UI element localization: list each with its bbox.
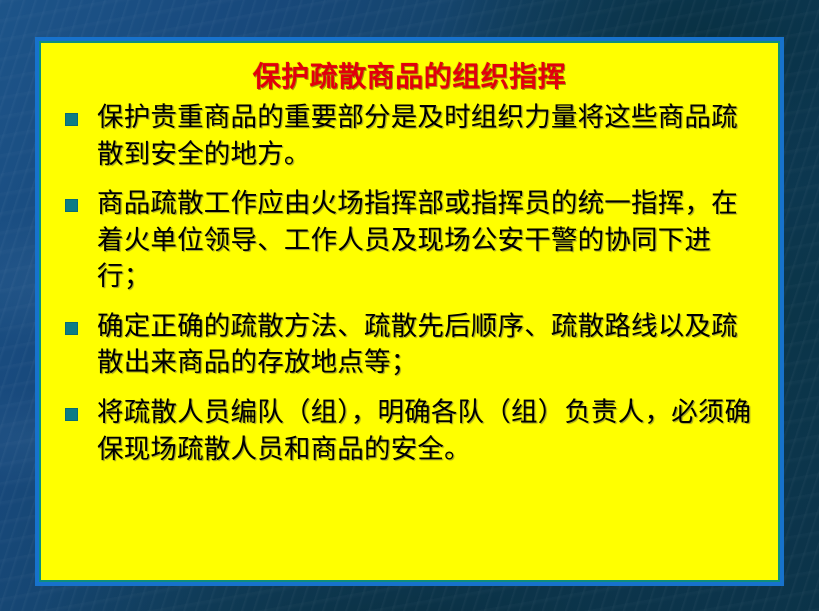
content-card: 保护疏散商品的组织指挥 保护贵重商品的重要部分是及时组织力量将这些商品疏散到安全… bbox=[35, 37, 784, 586]
slide-title: 保护疏散商品的组织指挥 bbox=[59, 59, 760, 94]
list-item: 确定正确的疏散方法、疏散先后顺序、疏散路线以及疏散出来商品的存放地点等； bbox=[59, 309, 760, 382]
slide-canvas: 保护疏散商品的组织指挥 保护贵重商品的重要部分是及时组织力量将这些商品疏散到安全… bbox=[0, 0, 819, 611]
list-item-text: 保护贵重商品的重要部分是及时组织力量将这些商品疏散到安全的地方。 bbox=[97, 100, 760, 173]
list-item-text: 确定正确的疏散方法、疏散先后顺序、疏散路线以及疏散出来商品的存放地点等； bbox=[97, 309, 760, 382]
list-item-text: 将疏散人员编队（组），明确各队（组）负责人，必须确保现场疏散人员和商品的安全。 bbox=[97, 395, 760, 468]
bullet-list: 保护贵重商品的重要部分是及时组织力量将这些商品疏散到安全的地方。 商品疏散工作应… bbox=[59, 100, 760, 468]
filled-square-bullet-icon bbox=[65, 113, 78, 126]
list-item: 商品疏散工作应由火场指挥部或指挥员的统一指挥，在着火单位领导、工作人员及现场公安… bbox=[59, 186, 760, 296]
list-item-text: 商品疏散工作应由火场指挥部或指挥员的统一指挥，在着火单位领导、工作人员及现场公安… bbox=[97, 186, 760, 296]
filled-square-bullet-icon bbox=[65, 408, 78, 421]
filled-square-bullet-icon bbox=[65, 199, 78, 212]
list-item: 保护贵重商品的重要部分是及时组织力量将这些商品疏散到安全的地方。 bbox=[59, 100, 760, 173]
list-item: 将疏散人员编队（组），明确各队（组）负责人，必须确保现场疏散人员和商品的安全。 bbox=[59, 395, 760, 468]
content-card-inner: 保护疏散商品的组织指挥 保护贵重商品的重要部分是及时组织力量将这些商品疏散到安全… bbox=[41, 43, 778, 580]
filled-square-bullet-icon bbox=[65, 322, 78, 335]
